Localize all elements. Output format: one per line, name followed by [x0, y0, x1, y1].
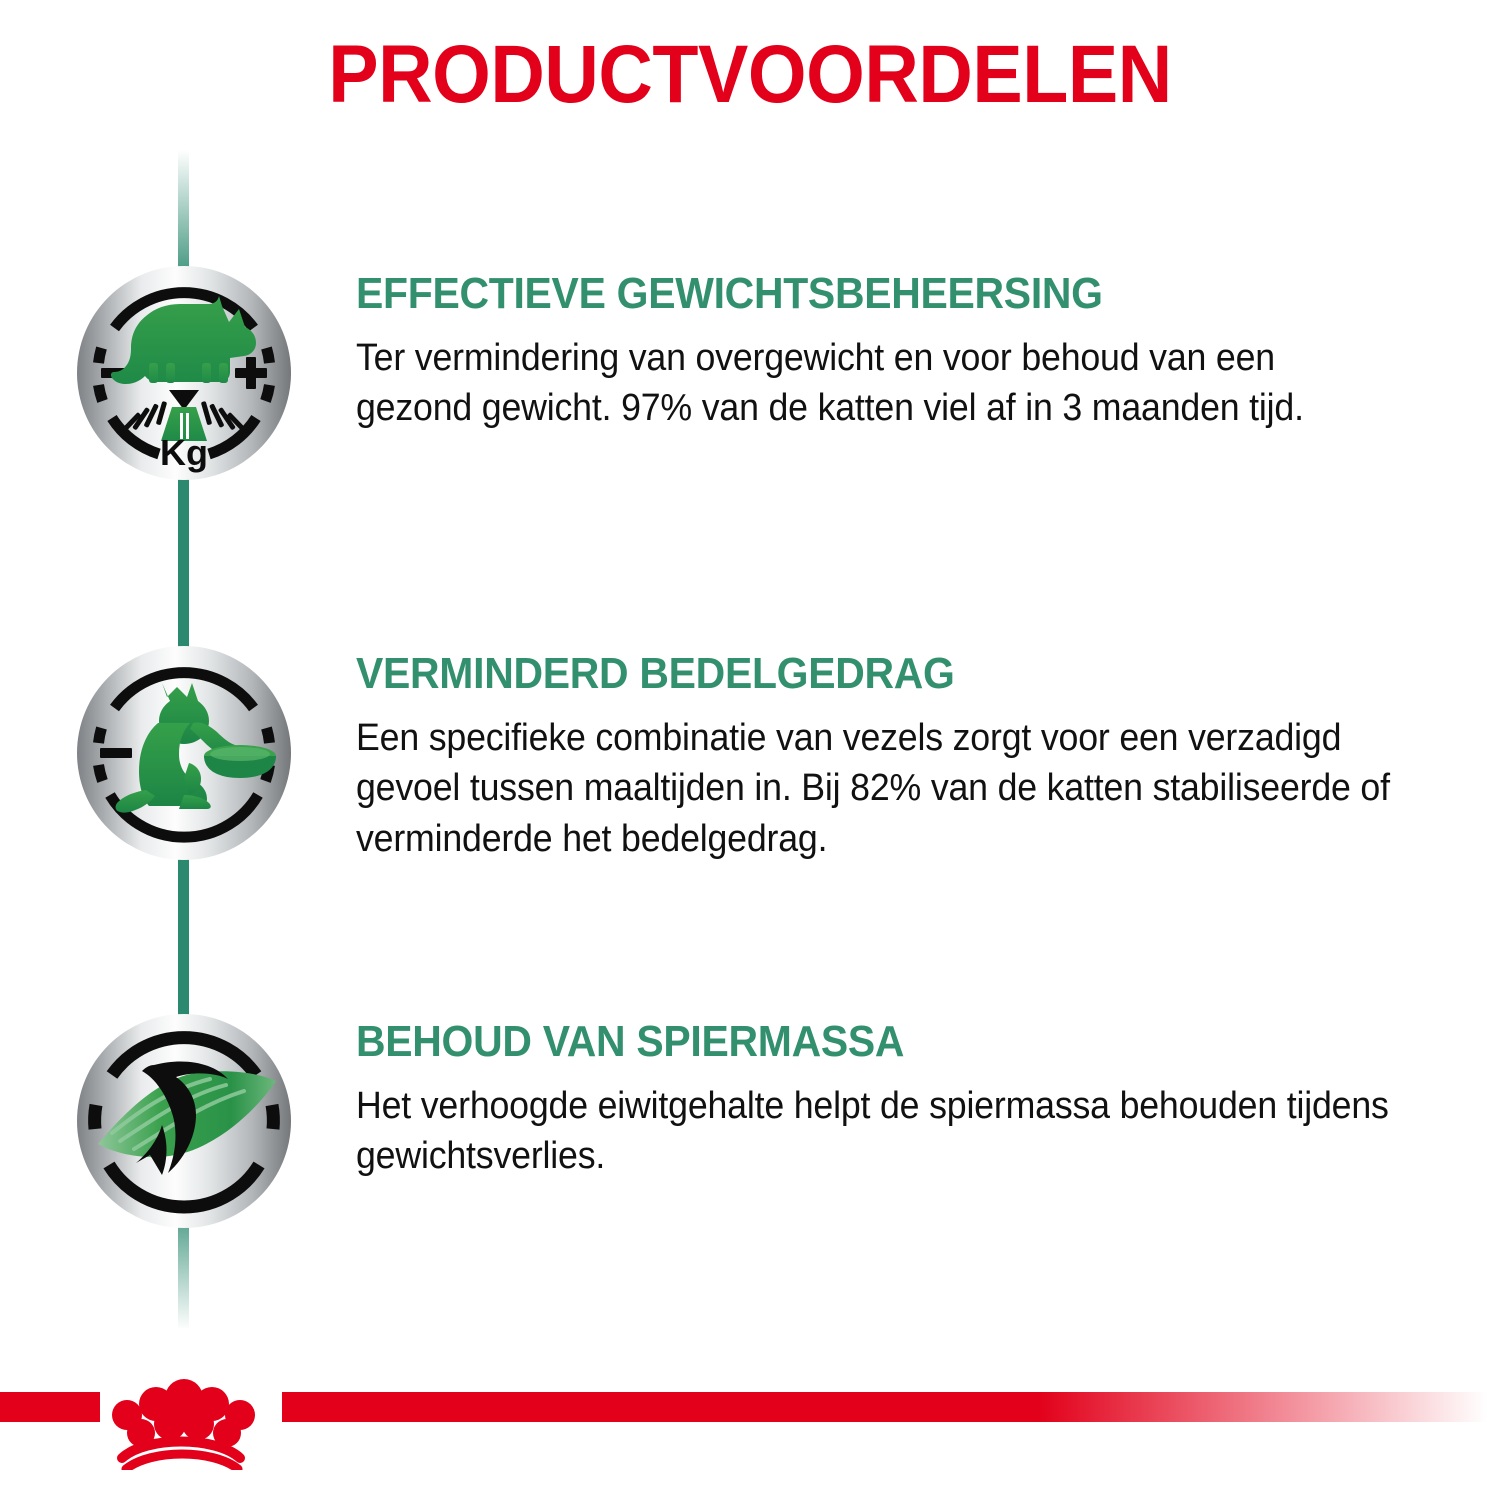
benefit-text-block: VERMINDERD BEDELGEDRAG Een specifieke co…	[356, 651, 1466, 864]
muscle-mass-icon	[76, 1013, 292, 1229]
footer-bar-right	[282, 1392, 1500, 1422]
benefit-body: Het verhoogde eiwitgehalte helpt de spie…	[356, 1081, 1399, 1181]
cat-on-scale-icon: Kg	[76, 265, 292, 481]
benefit-body: Ter vermindering van overgewicht en voor…	[356, 333, 1399, 433]
benefit-text-block: EFFECTIEVE GEWICHTSBEHEERSING Ter vermin…	[356, 271, 1466, 434]
page-title: PRODUCTVOORDELEN	[60, 34, 1440, 116]
footer-bar-left	[0, 1392, 100, 1422]
benefit-heading: BEHOUD VAN SPIERMASSA	[356, 1019, 1388, 1065]
benefit-heading: EFFECTIEVE GEWICHTSBEHEERSING	[356, 271, 1388, 317]
cat-begging-at-bowl-icon	[76, 645, 292, 861]
svg-text:Kg: Kg	[160, 432, 208, 473]
royal-canin-crown-logo	[96, 1370, 266, 1470]
footer	[0, 1370, 1500, 1500]
benefit-heading: VERMINDERD BEDELGEDRAG	[356, 651, 1388, 697]
benefit-text-block: BEHOUD VAN SPIERMASSA Het verhoogde eiwi…	[356, 1019, 1466, 1182]
benefit-body: Een specifieke combinatie van vezels zor…	[356, 713, 1399, 863]
